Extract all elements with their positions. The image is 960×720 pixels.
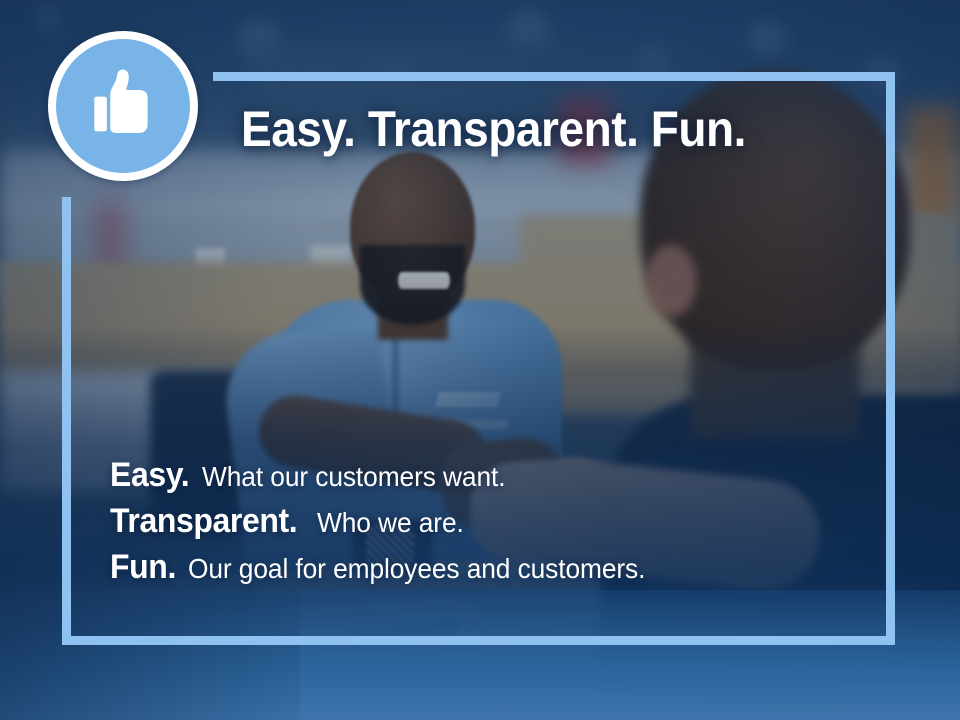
tagline-lead: Transparent. (110, 502, 297, 541)
thumbs-up-icon (80, 61, 166, 147)
frame-bottom-border (62, 636, 895, 645)
frame-top-border (213, 72, 895, 81)
frame-left-border (62, 197, 71, 645)
tagline-list: Easy. What our customers want. Transpare… (110, 456, 910, 594)
promo-banner: Easy. Transparent. Fun. Easy. What our c… (0, 0, 960, 720)
tagline-rest: What our customers want. (202, 461, 505, 493)
tagline-lead: Easy. (110, 456, 189, 495)
tagline-item: Easy. What our customers want. (110, 456, 910, 495)
page-title: Easy. Transparent. Fun. (241, 100, 746, 158)
tagline-item: Fun. Our goal for employees and customer… (110, 548, 910, 587)
tagline-item: Transparent. Who we are. (110, 502, 910, 541)
tagline-rest: Our goal for employees and customers. (188, 553, 645, 585)
thumbs-up-badge (48, 31, 198, 181)
tagline-lead: Fun. (110, 548, 176, 587)
tagline-rest: Who we are. (317, 507, 464, 539)
